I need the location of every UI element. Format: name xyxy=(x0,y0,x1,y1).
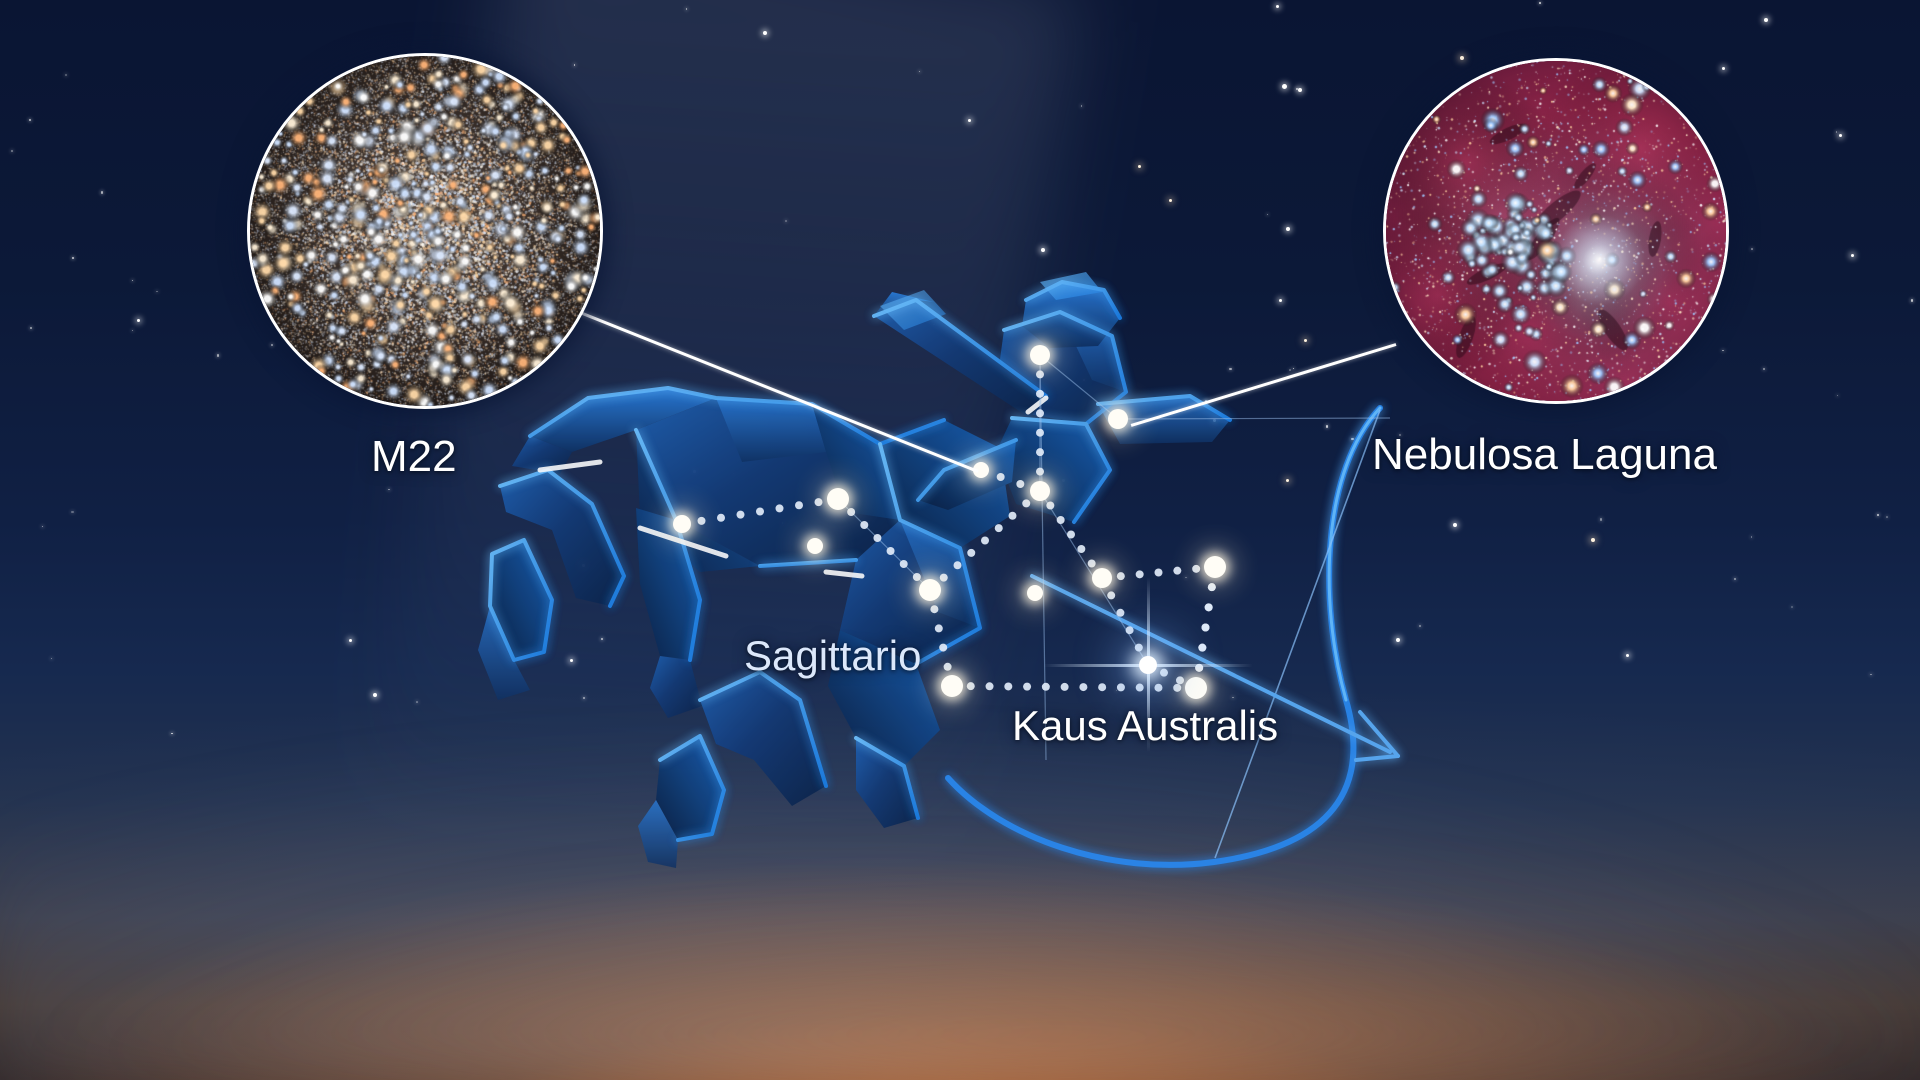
constellation-star[interactable] xyxy=(941,675,963,697)
constellation-star[interactable] xyxy=(919,579,941,601)
asterism-dot xyxy=(795,501,803,509)
asterism-dot xyxy=(997,473,1005,481)
label-sagittario: Sagittario xyxy=(744,632,921,680)
constellation-star[interactable] xyxy=(827,488,849,510)
asterism-dot xyxy=(698,517,706,525)
asterism-dot xyxy=(1036,448,1044,456)
label-nebulosa-laguna: Nebulosa Laguna xyxy=(1372,430,1717,480)
constellation-star[interactable] xyxy=(807,538,823,554)
asterism-dot xyxy=(1022,499,1030,507)
sky-scene: M22 Nebulosa Laguna Sagittario Kaus Aust… xyxy=(0,0,1920,1080)
asterism-dot xyxy=(944,663,952,671)
asterism-dot xyxy=(1036,370,1044,378)
asterism-dot xyxy=(1036,468,1044,476)
asterism-dot xyxy=(1107,591,1115,599)
asterism-dot xyxy=(1036,390,1044,398)
asterism-dot xyxy=(1098,683,1106,691)
constellation-star[interactable] xyxy=(1030,481,1050,501)
asterism-dot xyxy=(1198,644,1206,652)
asterism-dot xyxy=(1136,570,1144,578)
asterism-dot xyxy=(756,508,764,516)
asterism-dot xyxy=(1173,567,1181,575)
asterism-dot xyxy=(1136,684,1144,692)
asterism-dot xyxy=(1160,669,1168,677)
asterism-dot xyxy=(1117,683,1125,691)
constellation-star[interactable] xyxy=(1092,568,1112,588)
asterism-dot xyxy=(1116,609,1124,617)
inset-m22-globular-cluster[interactable] xyxy=(247,53,603,409)
asterism-dot xyxy=(1202,624,1210,632)
asterism-dot xyxy=(1079,683,1087,691)
asterism-dot xyxy=(1046,502,1054,510)
asterism-dot xyxy=(1061,683,1069,691)
asterism-dot xyxy=(1077,545,1085,553)
asterism-dot xyxy=(1057,516,1065,524)
asterism-dot xyxy=(815,498,823,506)
asterism-dot xyxy=(981,537,989,545)
label-kaus-australis: Kaus Australis xyxy=(1012,702,1278,750)
asterism-dot xyxy=(887,547,895,555)
constellation-star[interactable] xyxy=(673,515,691,533)
asterism-dot xyxy=(1155,569,1163,577)
constellation-star[interactable] xyxy=(1185,677,1207,699)
label-m22: M22 xyxy=(371,432,457,482)
asterism-dot xyxy=(935,624,943,632)
asterism-dot xyxy=(939,644,947,652)
asterism-dot xyxy=(1154,684,1162,692)
asterism-dot xyxy=(1023,683,1031,691)
asterism-dot xyxy=(1117,572,1125,580)
inset-lagoon-nebula[interactable] xyxy=(1383,58,1729,404)
asterism-dot xyxy=(986,682,994,690)
constellation-star[interactable] xyxy=(1030,345,1050,365)
m22-starfield-canvas xyxy=(247,53,603,409)
asterism-dot xyxy=(860,521,868,529)
asterism-dot xyxy=(1067,531,1075,539)
asterism-dot xyxy=(995,524,1003,532)
asterism-dot xyxy=(913,573,921,581)
asterism-dot xyxy=(873,534,881,542)
asterism-dot xyxy=(1208,583,1216,591)
asterism-dot xyxy=(1176,676,1184,684)
bow-string xyxy=(1215,410,1380,858)
asterism-dot xyxy=(1036,429,1044,437)
asterism-dot xyxy=(930,605,938,613)
asterism-dot xyxy=(967,549,975,557)
asterism-dot xyxy=(954,561,962,569)
asterism-dot xyxy=(1036,409,1044,417)
asterism-dot xyxy=(900,560,908,568)
asterism-dot xyxy=(1173,684,1181,692)
asterism-dot xyxy=(1042,683,1050,691)
flare-core xyxy=(1139,656,1157,674)
asterism-dot xyxy=(1004,682,1012,690)
lagoon-starfield-canvas xyxy=(1383,58,1729,404)
asterism-dot xyxy=(1126,626,1134,634)
asterism-dot xyxy=(737,511,745,519)
constellation-star[interactable] xyxy=(1027,585,1043,601)
asterism-dot xyxy=(847,508,855,516)
asterism-dot xyxy=(1009,512,1017,520)
asterism-dot xyxy=(1016,480,1024,488)
asterism-dot xyxy=(776,504,784,512)
asterism-dot xyxy=(1205,603,1213,611)
constellation-star[interactable] xyxy=(1108,409,1128,429)
asterism-dot xyxy=(717,514,725,522)
asterism-dot xyxy=(1192,565,1200,573)
asterism-dot xyxy=(940,574,948,582)
asterism-dot xyxy=(1088,560,1096,568)
constellation-star[interactable] xyxy=(1204,556,1226,578)
asterism-dot xyxy=(1135,644,1143,652)
asterism-dot xyxy=(967,682,975,690)
